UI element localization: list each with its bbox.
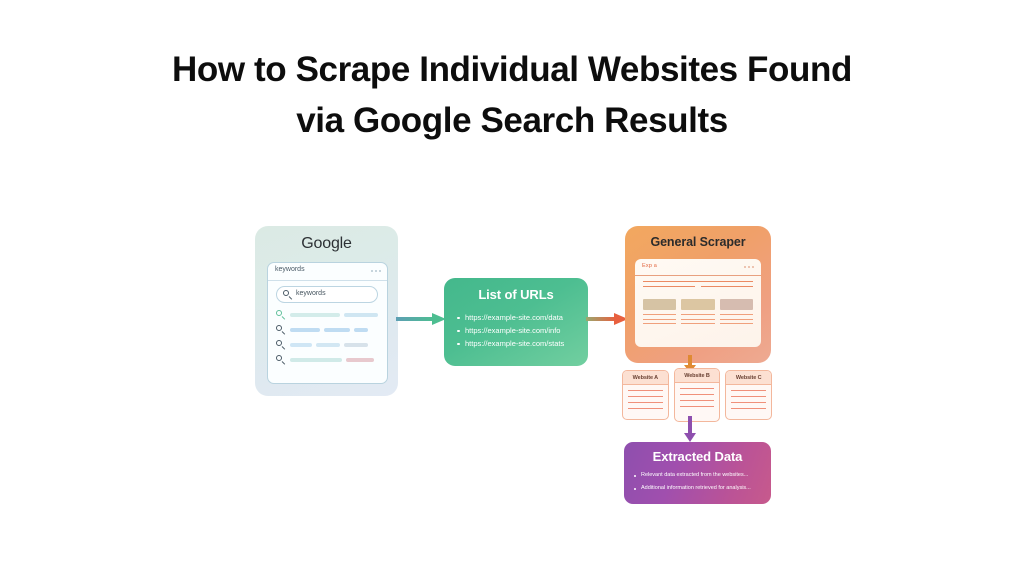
list-of-urls-box: List of URLs https://example-site.com/da… xyxy=(444,278,588,366)
google-result-row[interactable] xyxy=(276,352,380,367)
browser-tab-bar: keywords xyxy=(268,263,387,281)
google-result-row[interactable] xyxy=(276,322,380,337)
scraper-browser-window: Exp a xyxy=(635,259,761,347)
url-list-item: https://example-site.com/data xyxy=(455,311,582,324)
google-heading: Google xyxy=(255,235,398,253)
scraper-result-column xyxy=(643,299,676,328)
search-icon xyxy=(276,340,285,349)
website-card-c[interactable]: Website C xyxy=(725,370,772,420)
website-card-label: Website A xyxy=(633,375,658,381)
google-result-row[interactable] xyxy=(276,337,380,352)
arrow-urls-to-scraper xyxy=(586,312,628,331)
result-placeholder-bars xyxy=(290,358,380,362)
general-scraper-heading: General Scraper xyxy=(625,235,771,249)
website-card-lines xyxy=(623,385,668,409)
website-cards-row: Website A Website B Website C xyxy=(622,370,772,422)
website-card-label: Website C xyxy=(736,375,762,381)
extracted-data-item: Additional information retrieved for ana… xyxy=(632,482,767,495)
extracted-data-item: Relevant data extracted from the website… xyxy=(632,469,767,482)
google-search-card: Google keywords keywords xyxy=(255,226,398,396)
website-card-b[interactable]: Website B xyxy=(674,368,721,422)
search-icon xyxy=(276,355,285,364)
search-icon xyxy=(283,290,292,299)
general-scraper-card: General Scraper Exp a xyxy=(625,226,771,363)
url-list-item: https://example-site.com/stats xyxy=(455,337,582,350)
extracted-data-heading: Extracted Data xyxy=(624,449,771,464)
search-icon xyxy=(276,325,285,334)
arrow-google-to-urls xyxy=(396,312,446,331)
result-placeholder-bars xyxy=(290,328,380,332)
url-list: https://example-site.com/data https://ex… xyxy=(455,311,582,350)
website-card-lines xyxy=(675,383,720,407)
extracted-data-box: Extracted Data Relevant data extracted f… xyxy=(624,442,771,504)
list-of-urls-heading: List of URLs xyxy=(444,287,588,302)
google-search-input[interactable]: keywords xyxy=(276,286,378,303)
scraper-window-header: Exp a xyxy=(635,259,761,276)
scraper-content-lines xyxy=(643,281,753,291)
google-results-list xyxy=(276,307,380,367)
search-icon xyxy=(276,310,285,319)
url-list-item: https://example-site.com/info xyxy=(455,324,582,337)
scraper-result-column xyxy=(681,299,714,328)
google-browser-window: keywords keywords xyxy=(267,262,388,384)
result-placeholder-bars xyxy=(290,313,380,317)
scraper-result-column xyxy=(720,299,753,328)
result-placeholder-bars xyxy=(290,343,380,347)
website-card-header: Website B xyxy=(675,369,720,383)
scraper-result-columns xyxy=(643,299,753,328)
extracted-data-list: Relevant data extracted from the website… xyxy=(632,469,767,495)
scraper-window-label: Exp a xyxy=(642,263,657,269)
website-card-header: Website C xyxy=(726,371,771,385)
website-card-label: Website B xyxy=(684,373,710,379)
website-card-lines xyxy=(726,385,771,409)
browser-menu-dots-icon xyxy=(371,270,381,272)
scraper-menu-dots-icon xyxy=(744,266,754,268)
browser-tab-label: keywords xyxy=(275,266,305,273)
workflow-diagram: Google keywords keywords xyxy=(0,0,1024,577)
google-search-value: keywords xyxy=(296,290,326,297)
website-card-header: Website A xyxy=(623,371,668,385)
google-result-row[interactable] xyxy=(276,307,380,322)
website-card-a[interactable]: Website A xyxy=(622,370,669,420)
